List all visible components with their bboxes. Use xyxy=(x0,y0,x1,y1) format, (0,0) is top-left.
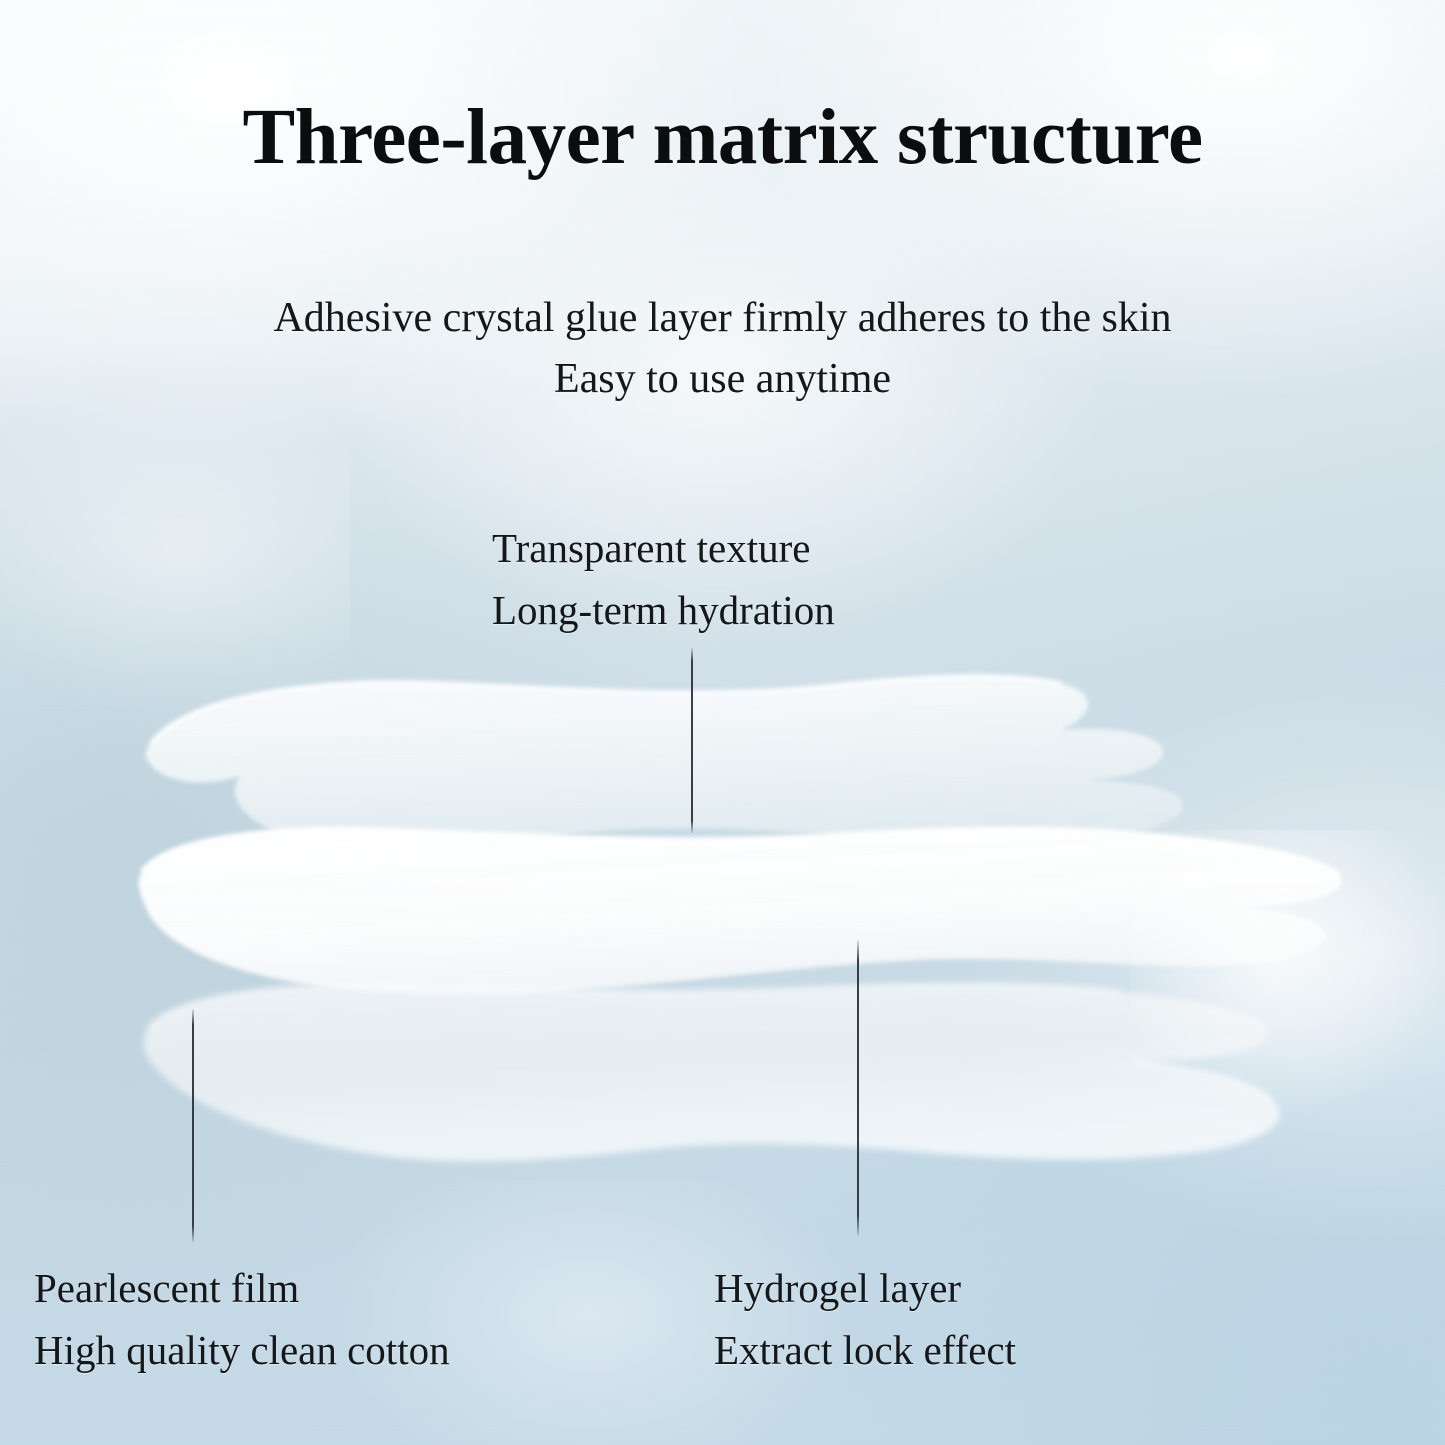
page-title: Three-layer matrix structure xyxy=(0,97,1445,180)
callout-pearlescent-film: Pearlescent film High quality clean cott… xyxy=(34,1258,450,1381)
leader-line-transparent-texture xyxy=(691,648,693,833)
layer-bottom xyxy=(144,985,1280,1161)
layer-stack-illustration xyxy=(0,0,1445,1445)
layer-top xyxy=(146,676,1183,851)
callout-hydrogel-layer-line-2: Extract lock effect xyxy=(714,1320,1016,1382)
product-infographic: Three-layer matrix structure Adhesive cr… xyxy=(0,0,1445,1445)
callout-hydrogel-layer-line-1: Hydrogel layer xyxy=(714,1258,1016,1320)
callout-transparent-texture: Transparent texture Long-term hydration xyxy=(492,518,835,641)
callout-pearlescent-film-line-2: High quality clean cotton xyxy=(34,1320,450,1382)
callout-transparent-texture-line-2: Long-term hydration xyxy=(492,580,835,642)
callout-pearlescent-film-line-1: Pearlescent film xyxy=(34,1258,450,1320)
highlight-haze-left xyxy=(0,380,350,720)
subtitle-line-2: Easy to use anytime xyxy=(0,349,1445,410)
callout-hydrogel-layer: Hydrogel layer Extract lock effect xyxy=(714,1258,1016,1381)
leader-line-pearlescent-film xyxy=(192,1009,194,1242)
highlight-haze-right xyxy=(1130,830,1445,1130)
callout-transparent-texture-line-1: Transparent texture xyxy=(492,518,835,580)
subtitle-line-1: Adhesive crystal glue layer firmly adher… xyxy=(0,288,1445,349)
layer-middle xyxy=(139,829,1342,995)
subtitle-block: Adhesive crystal glue layer firmly adher… xyxy=(0,288,1445,411)
background-grain-overlay xyxy=(0,0,1445,1445)
leader-line-hydrogel-layer xyxy=(857,940,859,1236)
